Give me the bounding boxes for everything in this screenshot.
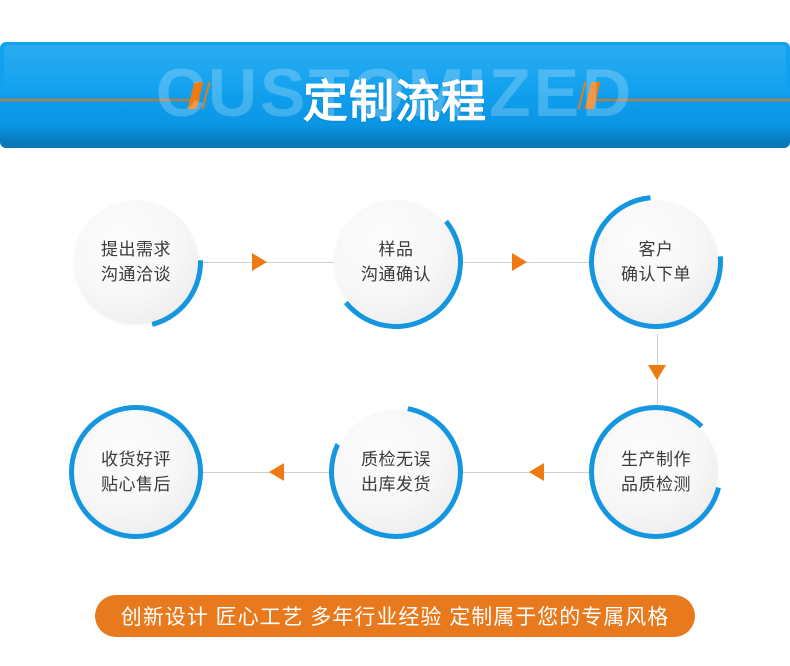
node-label-line2: 贴心售后 [101,472,171,497]
node-label-line1: 收货好评 [101,447,171,472]
flow-node-step-6[interactable]: 收货好评 贴心售后 [74,410,198,534]
node-label-line2: 确认下单 [621,262,691,287]
node-label-line2: 沟通洽谈 [101,262,171,287]
node-label-line2: 品质检测 [621,472,691,497]
footer-slogan-text: 创新设计 匠心工艺 多年行业经验 定制属于您的专属风格 [121,601,670,631]
node-label: 客户 确认下单 [594,200,718,324]
page-title: 定制流程 [0,76,790,128]
node-label: 提出需求 沟通洽谈 [74,200,198,324]
flow-node-step-2[interactable]: 样品 沟通确认 [334,200,458,324]
node-label: 样品 沟通确认 [334,200,458,324]
connector-step4-step5 [458,472,598,473]
node-label: 收货好评 贴心售后 [74,410,198,534]
node-label: 质检无误 出库发货 [334,410,458,534]
flow-node-step-5[interactable]: 质检无误 出库发货 [334,410,458,534]
node-label-line2: 沟通确认 [361,262,431,287]
node-label-line1: 样品 [379,237,414,262]
arrow-left-step5-step6-icon [269,463,284,481]
flow-node-step-3[interactable]: 客户 确认下单 [594,200,718,324]
arrow-right-step2-step3-icon [512,253,527,271]
flow-node-step-4[interactable]: 生产制作 品质检测 [594,410,718,534]
process-flow-diagram: 提出需求 沟通洽谈 样品 沟通确认 客户 确认下单 生产制作 品质检测 质检无误 [0,148,790,568]
connector-step5-step6 [198,472,338,473]
header-banner: CUSTOMIZED 定制流程 [0,42,790,148]
node-label-line2: 出库发货 [361,472,431,497]
arrow-down-step3-step4-icon [648,365,666,380]
node-label-line1: 客户 [639,237,674,262]
node-label: 生产制作 品质检测 [594,410,718,534]
node-label-line1: 生产制作 [621,447,691,472]
connector-step2-step3 [458,262,598,263]
arrow-left-step4-step5-icon [529,463,544,481]
connector-step1-step2 [198,262,338,263]
node-label-line1: 提出需求 [101,237,171,262]
footer-slogan-banner: 创新设计 匠心工艺 多年行业经验 定制属于您的专属风格 [95,595,695,637]
node-label-line1: 质检无误 [361,447,431,472]
flow-node-step-1[interactable]: 提出需求 沟通洽谈 [74,200,198,324]
arrow-right-step1-step2-icon [252,253,267,271]
